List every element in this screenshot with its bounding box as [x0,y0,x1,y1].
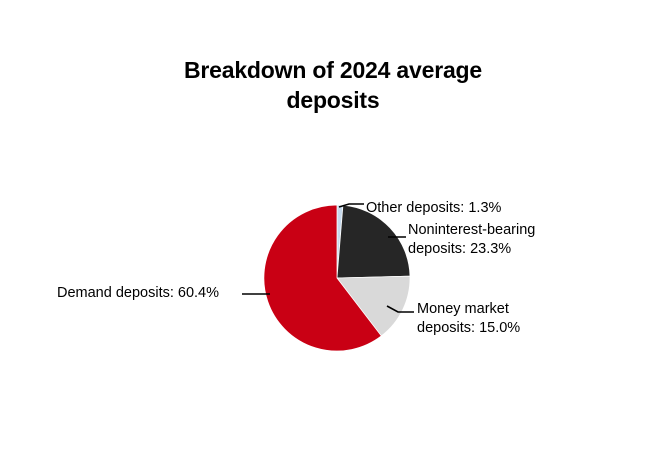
pie-label-demand-deposits: Demand deposits: 60.4% [57,284,219,303]
pie-label-noninterest-bearing-deposits: Noninterest-bearing deposits: 23.3% [408,221,535,259]
pie-label-money-market-deposits: Money market deposits: 15.0% [417,300,520,338]
pie-chart-graphic [0,0,666,466]
pie-chart-figure: Breakdown of 2024 average deposits Other… [0,0,666,466]
pie-label-other-deposits: Other deposits: 1.3% [366,199,501,218]
pie-slices [264,205,410,351]
